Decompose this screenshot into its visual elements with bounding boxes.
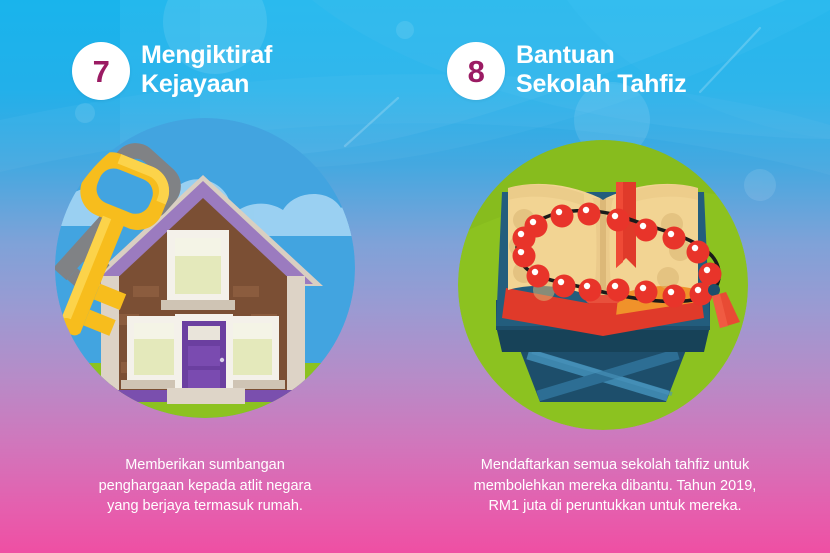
- section-caption-8: Mendaftarkan semua sekolah tahfiz untuk …: [440, 455, 790, 517]
- section-title-8: Bantuan Sekolah Tahfiz: [516, 41, 686, 99]
- quran-on-rehal-illustration: [458, 140, 748, 430]
- section-title-7: Mengiktiraf Kejayaan: [141, 41, 272, 99]
- section-caption-7: Memberikan sumbangan penghargaan kepada …: [60, 455, 350, 517]
- quran-on-rehal-with-prayer-beads-icon: [458, 140, 748, 430]
- house-with-keys-illustration: [55, 118, 355, 418]
- house-with-keys-icon: [55, 118, 355, 418]
- section-badge-7: 7: [72, 42, 130, 100]
- infographic-canvas: 7 Mengiktiraf Kejayaan: [0, 0, 830, 553]
- badge-number-8: 8: [468, 56, 485, 87]
- section-badge-8: 8: [447, 42, 505, 100]
- badge-number-7: 7: [93, 56, 110, 87]
